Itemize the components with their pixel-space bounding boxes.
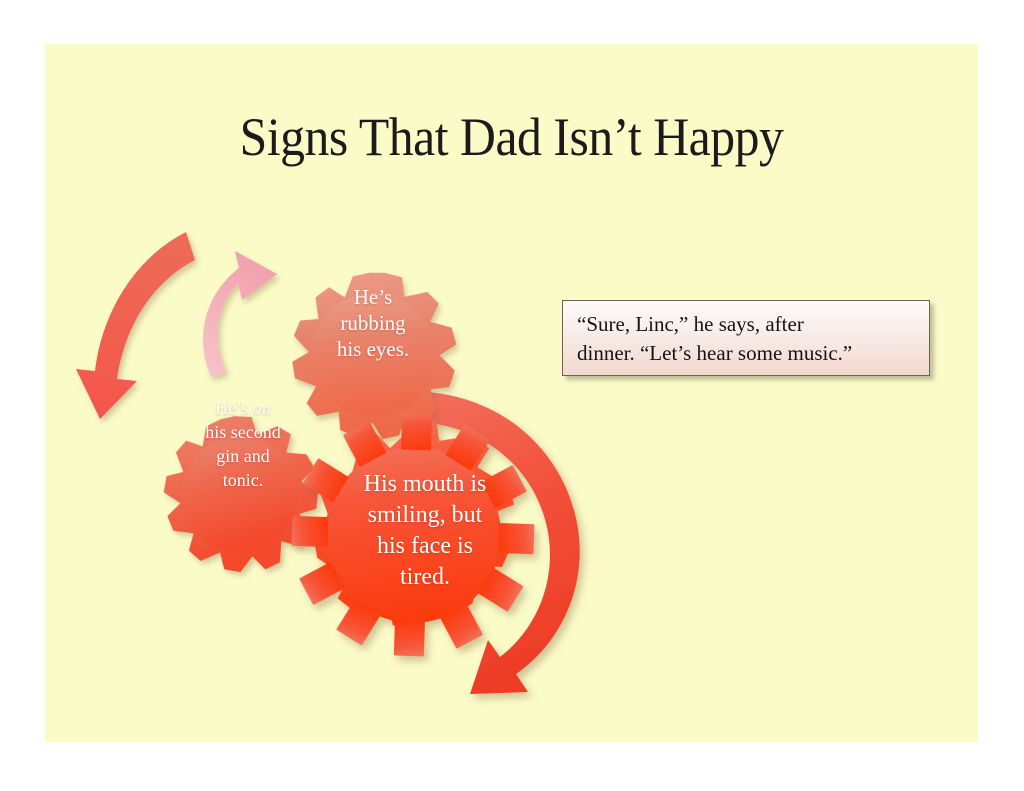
slide-canvas: Signs That Dad Isn’t Happy <box>45 44 978 742</box>
gear-shape-2 <box>159 411 324 577</box>
gear-process-diagram <box>45 44 978 742</box>
quote-line-1: “Sure, Linc,” he says, after <box>577 310 915 339</box>
quote-text-box: “Sure, Linc,” he says, after dinner. “Le… <box>562 300 930 376</box>
quote-line-2: dinner. “Let’s hear some music.” <box>577 339 915 368</box>
curved-arrow-up-right-icon <box>203 251 277 377</box>
slide-root: Signs That Dad Isn’t Happy <box>0 0 1024 791</box>
curved-arrow-down-left-icon <box>76 232 195 419</box>
